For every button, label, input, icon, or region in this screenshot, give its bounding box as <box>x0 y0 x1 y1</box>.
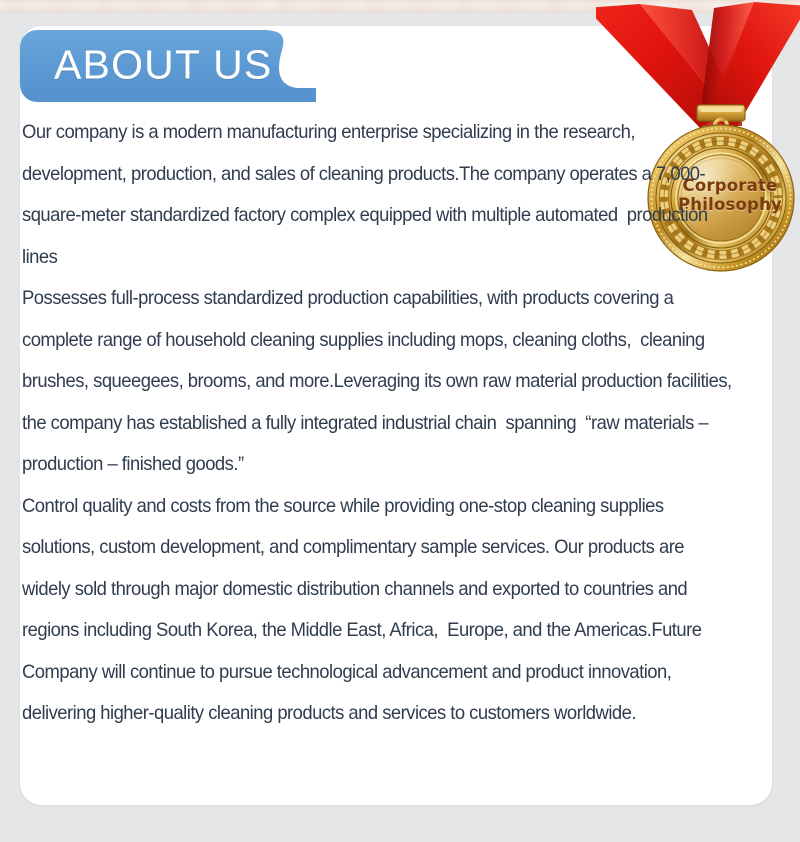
paragraph-3: Control quality and costs from the sourc… <box>22 486 733 735</box>
paragraph-1: Our company is a modern manufacturing en… <box>22 112 733 278</box>
about-us-banner: ABOUT US <box>20 30 330 102</box>
top-wood-texture-strip <box>0 0 800 13</box>
page-title: ABOUT US <box>54 42 272 89</box>
paragraph-2: Possesses full-process standardized prod… <box>22 278 733 486</box>
about-us-body: Our company is a modern manufacturing en… <box>22 112 774 735</box>
